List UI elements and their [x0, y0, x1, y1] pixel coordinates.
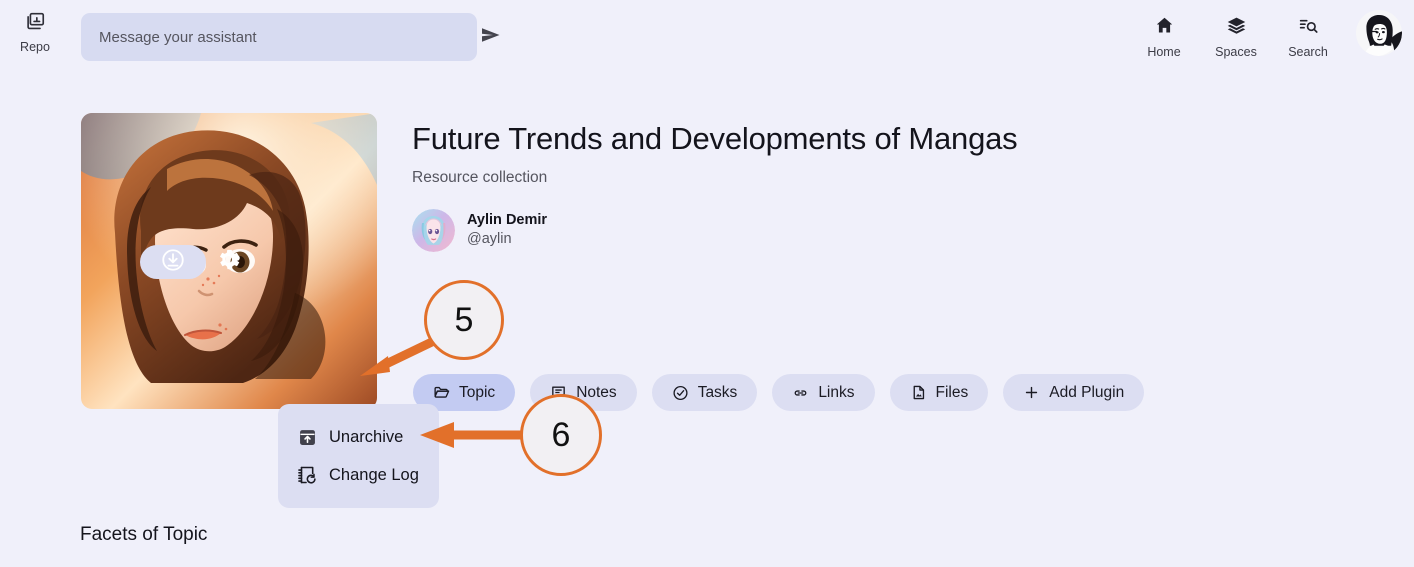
send-icon [479, 23, 503, 52]
top-bar: Repo Home [0, 0, 1414, 72]
tab-label-links: Links [818, 384, 854, 402]
gear-button[interactable] [208, 245, 248, 279]
plus-icon [1023, 384, 1040, 401]
author-avatar [412, 209, 455, 252]
link-icon [792, 384, 809, 401]
avatar[interactable] [1356, 10, 1402, 56]
repo-button[interactable]: Repo [14, 10, 56, 54]
nav-item-home[interactable]: Home [1128, 8, 1200, 59]
author-row[interactable]: Aylin Demir @aylin [412, 209, 1017, 252]
tab-files[interactable]: Files [890, 374, 989, 411]
gear-icon [215, 246, 242, 278]
note-icon [550, 384, 567, 401]
annotation-marker-5: 5 [424, 280, 504, 360]
settings-dropdown-menu: Unarchive Change Log [278, 404, 439, 508]
nav-label-spaces: Spaces [1215, 46, 1257, 59]
download-icon [160, 247, 186, 278]
menu-item-change-log[interactable]: Change Log [278, 460, 439, 490]
nav-label-home: Home [1147, 46, 1180, 59]
tab-label-add-plugin: Add Plugin [1049, 384, 1124, 402]
app-root: Repo Home [0, 0, 1414, 567]
tab-label-files: Files [936, 384, 969, 402]
unarchive-icon [296, 426, 318, 448]
tab-links[interactable]: Links [772, 374, 874, 411]
tab-tasks[interactable]: Tasks [652, 374, 758, 411]
title-block: Future Trends and Developments of Mangas… [412, 120, 1017, 252]
author-handle: @aylin [467, 230, 547, 249]
home-icon [1154, 15, 1175, 41]
layers-icon [1226, 15, 1247, 41]
page-subtitle: Resource collection [412, 169, 1017, 187]
page-title: Future Trends and Developments of Mangas [412, 120, 1017, 158]
tab-notes[interactable]: Notes [530, 374, 637, 411]
hero-image-actions [140, 245, 248, 279]
nav-group: Home Spaces [1128, 8, 1402, 59]
menu-label-change-log: Change Log [329, 466, 419, 485]
author-name: Aylin Demir [467, 211, 547, 230]
menu-label-unarchive: Unarchive [329, 428, 403, 447]
folder-icon [433, 384, 450, 401]
nav-item-search[interactable]: Search [1272, 8, 1344, 59]
menu-item-unarchive[interactable]: Unarchive [278, 422, 439, 452]
nav-item-spaces[interactable]: Spaces [1200, 8, 1272, 59]
file-icon [910, 384, 927, 401]
send-button[interactable] [478, 24, 504, 50]
search-icon [1298, 15, 1319, 41]
author-text: Aylin Demir @aylin [467, 211, 547, 249]
facets-heading: Facets of Topic [80, 524, 207, 546]
download-button[interactable] [140, 245, 206, 279]
tab-label-tasks: Tasks [698, 384, 738, 402]
repo-icon [24, 10, 46, 37]
nav-label-search: Search [1288, 46, 1328, 59]
check-circle-icon [672, 384, 689, 401]
tab-bar: Topic Notes Tasks [413, 374, 1144, 411]
tab-label-topic: Topic [459, 384, 495, 402]
repo-label: Repo [20, 41, 50, 54]
message-input[interactable] [81, 13, 477, 61]
tab-label-notes: Notes [576, 384, 617, 402]
tab-add-plugin[interactable]: Add Plugin [1003, 374, 1144, 411]
change-log-icon [296, 464, 318, 486]
